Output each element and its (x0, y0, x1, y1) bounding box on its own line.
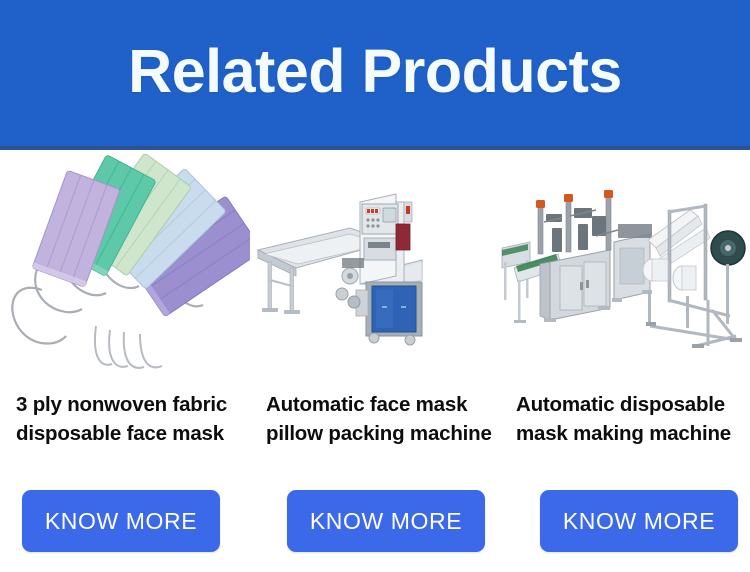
product-title: Automatic face mask pillow packing machi… (266, 390, 500, 448)
related-products-section: Related Products (0, 0, 750, 572)
pillow-packing-machine-photo (250, 150, 500, 372)
three-ply-masks-fan-photo (0, 150, 250, 372)
product-card[interactable]: Automatic face mask pillow packing machi… (250, 150, 500, 572)
product-grid: 3 ply nonwoven fabric disposable face ma… (0, 150, 750, 572)
product-title: 3 ply nonwoven fabric disposable face ma… (16, 390, 250, 448)
product-title: Automatic disposable mask making machine (516, 390, 750, 448)
product-card[interactable]: Automatic disposable mask making machine… (500, 150, 750, 572)
know-more-button[interactable]: KNOW MORE (540, 490, 738, 552)
know-more-button[interactable]: KNOW MORE (287, 490, 485, 552)
section-banner: Related Products (0, 0, 750, 146)
product-card[interactable]: 3 ply nonwoven fabric disposable face ma… (0, 150, 250, 572)
mask-making-machine-photo (500, 150, 750, 372)
page-title: Related Products (128, 41, 622, 102)
know-more-button[interactable]: KNOW MORE (22, 490, 220, 552)
